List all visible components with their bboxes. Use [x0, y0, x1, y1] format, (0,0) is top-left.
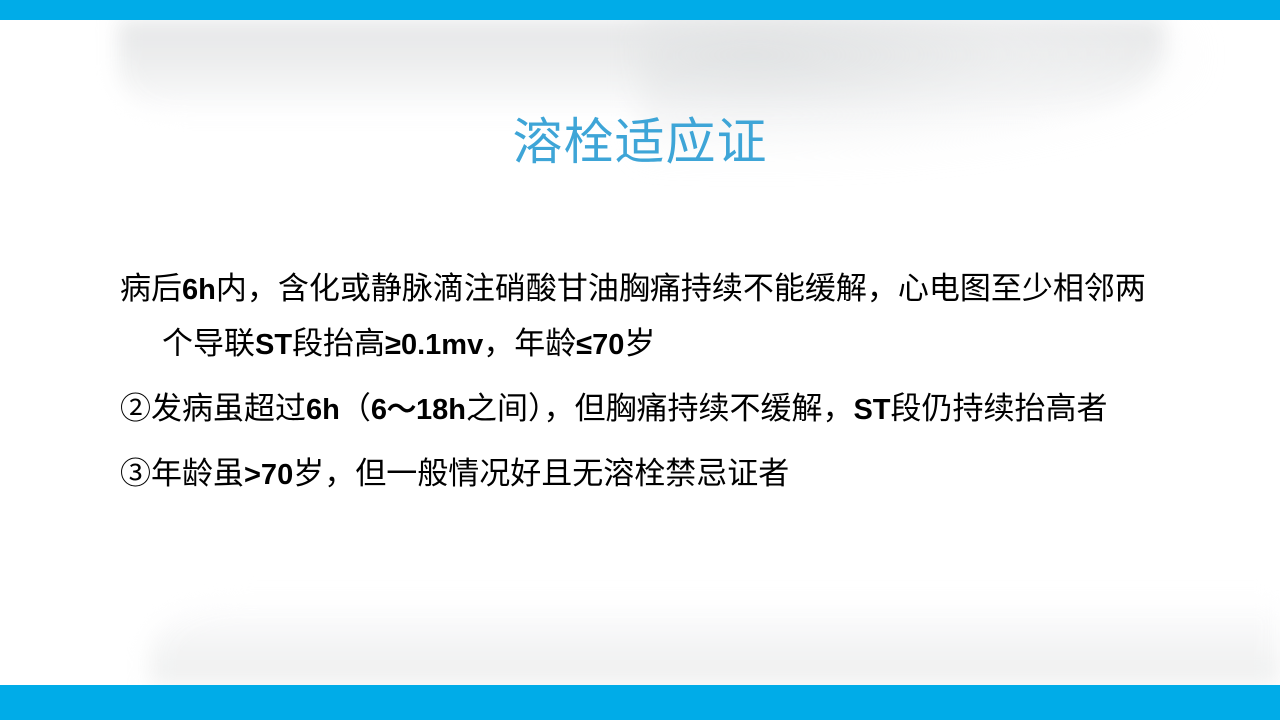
body-item-1-text-e: 段抬高	[292, 326, 385, 361]
body-item-1-text-a: 病后	[120, 271, 182, 306]
body-item-2-value-range: 6～18h	[371, 394, 466, 426]
body-item-1-value-6h: 6h	[182, 274, 216, 306]
body-item-2-value-6h: 6h	[306, 394, 340, 426]
background-band-bottom	[150, 599, 1280, 685]
body-item-3-value-age: >70	[244, 459, 293, 491]
top-accent-bar	[0, 0, 1280, 20]
background-band-top	[118, 20, 1164, 116]
body-item-1-text-d: 个导联	[162, 326, 255, 361]
body-item-2-text-e: 之间），但胸痛持续不缓解，	[466, 391, 854, 426]
body-item-2-text-g: 段仍持续抬高者	[891, 391, 1108, 426]
body-item-2-value-st: ST	[853, 394, 890, 426]
slide-canvas: 溶栓适应证 病后6h内，含化或静脉滴注硝酸甘油胸痛持续不能缓解，心电图至少相邻两…	[0, 0, 1280, 720]
body-item-3-marker: ③	[120, 456, 151, 491]
body-item-3: ③年龄虽>70岁，但一般情况好且无溶栓禁忌证者	[120, 447, 1180, 502]
body-item-1-line-2: 个导联ST段抬高≥0.1mv，年龄≤70岁	[120, 317, 1180, 372]
slide-title: 溶栓适应证	[0, 112, 1280, 172]
body-item-2-text-c: （	[340, 391, 371, 426]
body-item-2-marker: ②	[120, 391, 151, 426]
body-item-1: 病后6h内，含化或静脉滴注硝酸甘油胸痛持续不能缓解，心电图至少相邻两个导联ST段…	[78, 262, 1180, 372]
body-item-1-value-mv: ≥0.1mv	[385, 329, 483, 361]
body-item-3-text-a: 年龄虽	[151, 456, 244, 491]
body-item-1-text-g: 岁	[624, 326, 655, 361]
bottom-accent-bar	[0, 685, 1280, 720]
body-item-1-value-age: ≤70	[576, 329, 624, 361]
body-item-2-text-a: 发病虽超过	[151, 391, 306, 426]
body-item-1-text-f: ，年龄	[483, 326, 576, 361]
slide-body: 病后6h内，含化或静脉滴注硝酸甘油胸痛持续不能缓解，心电图至少相邻两个导联ST段…	[120, 262, 1180, 502]
body-item-2: ②发病虽超过6h（6～18h之间），但胸痛持续不缓解，ST段仍持续抬高者	[120, 382, 1180, 437]
body-item-1-text-c: 内，含化或静脉滴注硝酸甘油胸痛持续不能缓解，心电图至少相邻两	[216, 271, 1146, 306]
body-item-3-text-c: 岁，但一般情况好且无溶栓禁忌证者	[293, 456, 789, 491]
body-item-1-value-st: ST	[255, 329, 292, 361]
